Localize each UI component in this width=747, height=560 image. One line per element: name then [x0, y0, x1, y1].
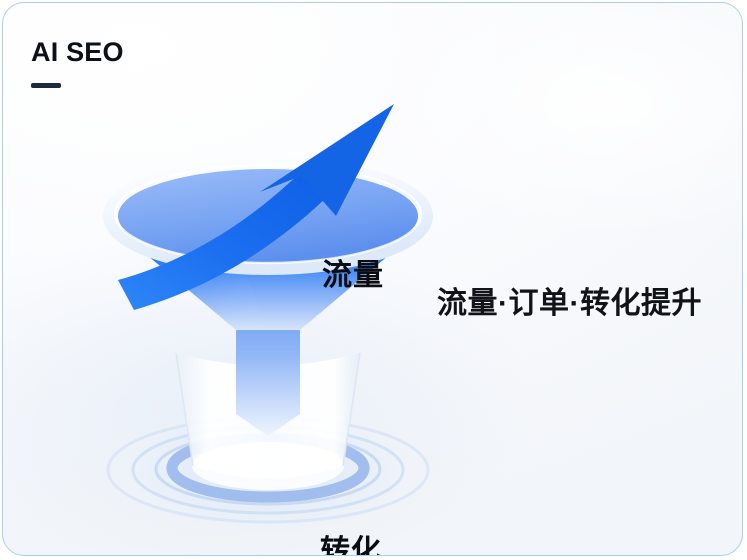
funnel-stem [236, 320, 300, 436]
slide-card: AI SEO 流量·订单·转化提升 [2, 2, 743, 556]
funnel-label-conversion: 转化 [320, 526, 382, 556]
funnel-illustration: 流量 转化 [98, 98, 438, 548]
slide-canvas: AI SEO 流量·订单·转化提升 [0, 0, 747, 560]
title-underline-rule [31, 83, 61, 88]
tagline-text: 流量·订单·转化提升 [437, 278, 702, 322]
funnel-label-traffic: 流量 [322, 250, 384, 294]
brand-block: AI SEO [31, 39, 124, 88]
funnel-illustration-svg [98, 98, 438, 548]
page-title: AI SEO [31, 39, 124, 66]
